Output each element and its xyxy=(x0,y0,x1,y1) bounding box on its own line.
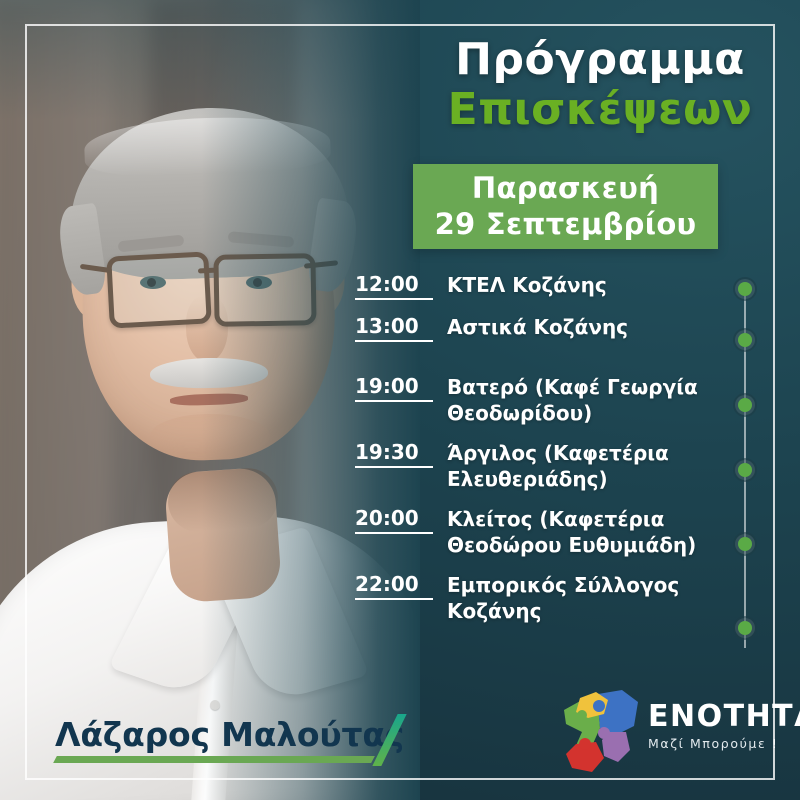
schedule-item-time: 19:30 xyxy=(355,440,433,468)
timeline-dot xyxy=(738,537,752,551)
timeline-dot xyxy=(738,333,752,347)
timeline-dot xyxy=(738,463,752,477)
schedule-item-place: Άργιλος (Καφετέρια Ελευθεριάδης) xyxy=(447,440,755,492)
page-title-primary: Πρόγραμμα xyxy=(420,36,780,84)
timeline-dot xyxy=(738,398,752,412)
date-weekday: Παρασκευή xyxy=(472,171,659,206)
schedule-list: 12:00 ΚΤΕΛ Κοζάνης 13:00 Αστικά Κοζάνης … xyxy=(355,272,755,638)
schedule-item: 13:00 Αστικά Κοζάνης xyxy=(355,314,755,342)
schedule-item-time: 20:00 xyxy=(355,506,433,534)
schedule-item-time: 22:00 xyxy=(355,572,433,600)
poster-canvas: Πρόγραμμα Επισκέψεων Παρασκευή 29 Σεπτεμ… xyxy=(0,0,800,800)
schedule-item: 22:00 Εμπορικός Σύλλογος Κοζάνης xyxy=(355,572,755,624)
party-slogan: Μαζί Μπορούμε ! xyxy=(648,738,800,751)
page-title-secondary: Επισκέψεων xyxy=(420,84,780,137)
party-logo: ΕΝΟΤΗΤΑ Μαζί Μπορούμε ! xyxy=(552,688,762,774)
schedule-item-place: Αστικά Κοζάνης xyxy=(447,314,628,340)
party-name: ΕΝΟΤΗΤΑ xyxy=(648,702,800,732)
schedule-item-time: 13:00 xyxy=(355,314,433,342)
schedule-item-time: 19:00 xyxy=(355,374,433,402)
name-underline-bar xyxy=(53,756,375,763)
photo-top-overlay xyxy=(0,0,420,120)
schedule-item-place: Εμπορικός Σύλλογος Κοζάνης xyxy=(447,572,755,624)
timeline-dot xyxy=(738,282,752,296)
candidate-name-logo: Λάζαρος Μαλούτας xyxy=(55,718,404,763)
schedule-spacer xyxy=(355,356,755,374)
timeline-dot xyxy=(738,621,752,635)
date-day-month: 29 Σεπτεμβρίου xyxy=(435,207,697,242)
title-block: Πρόγραμμα Επισκέψεων xyxy=(420,36,780,137)
schedule-item-place: ΚΤΕΛ Κοζάνης xyxy=(447,272,607,298)
schedule-item-place: Βατερό (Καφέ Γεωργία Θεοδωρίδου) xyxy=(447,374,755,426)
party-brand-text: ΕΝΟΤΗΤΑ Μαζί Μπορούμε ! xyxy=(648,702,800,751)
schedule-item-place: Κλείτος (Καφετέρια Θεοδώρου Ευθυμιάδη) xyxy=(447,506,755,558)
puzzle-map-icon xyxy=(552,688,644,774)
schedule-item: 19:30 Άργιλος (Καφετέρια Ελευθεριάδης) xyxy=(355,440,755,492)
schedule-item: 12:00 ΚΤΕΛ Κοζάνης xyxy=(355,272,755,300)
schedule-item-time: 12:00 xyxy=(355,272,433,300)
schedule-item: 20:00 Κλείτος (Καφετέρια Θεοδώρου Ευθυμι… xyxy=(355,506,755,558)
schedule-item: 19:00 Βατερό (Καφέ Γεωργία Θεοδωρίδου) xyxy=(355,374,755,426)
date-banner: Παρασκευή 29 Σεπτεμβρίου xyxy=(413,164,718,249)
candidate-name: Λάζαρος Μαλούτας xyxy=(55,718,404,751)
